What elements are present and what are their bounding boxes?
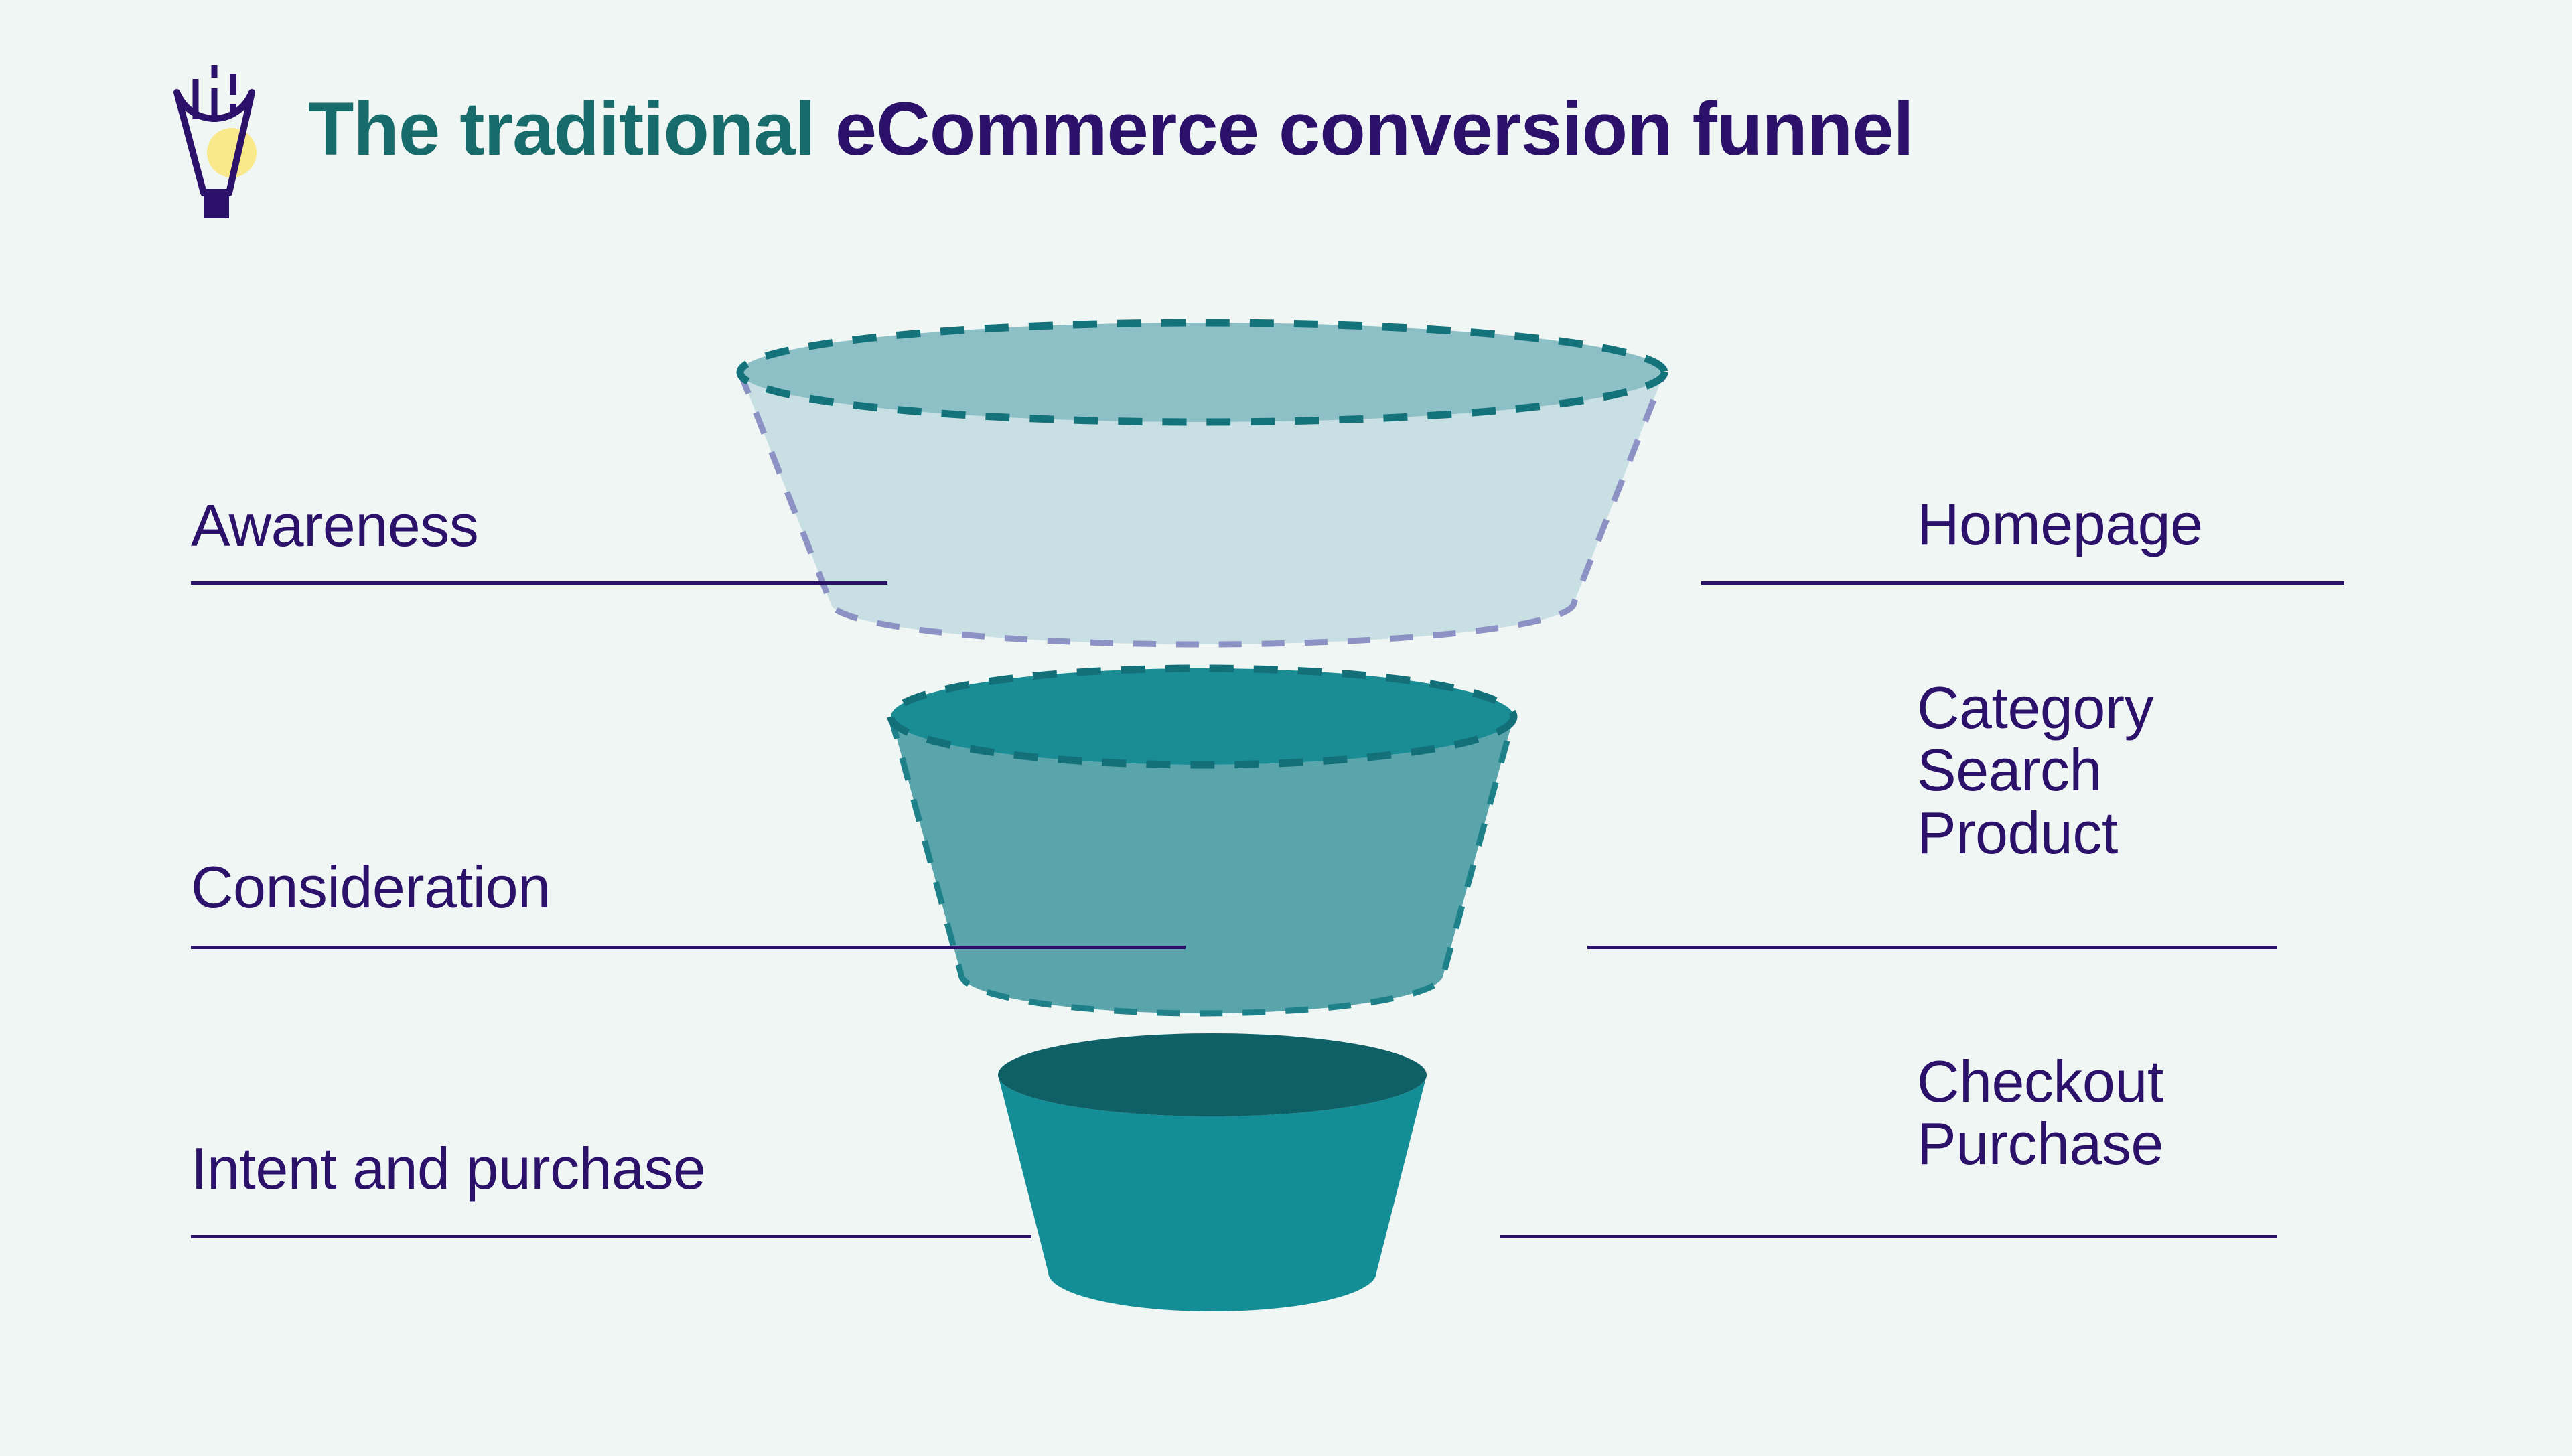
page-label-group-consideration: Category Search Product <box>1917 676 2153 864</box>
stage-rule-intent-left <box>191 1235 1031 1238</box>
intent-body <box>998 1075 1427 1311</box>
page-label-purchase: Purchase <box>1917 1112 2163 1175</box>
page-title: The traditional eCommerce conversion fun… <box>308 92 1914 176</box>
page-title-part-2: eCommerce conversion funnel <box>835 87 1914 171</box>
stage-label-consideration: Consideration <box>191 856 551 918</box>
intent-top-ellipse <box>998 1033 1427 1116</box>
page-label-search: Search <box>1917 739 2153 801</box>
page-label-product: Product <box>1917 802 2153 864</box>
page-label-group-intent: Checkout Purchase <box>1917 1050 2163 1175</box>
consideration-top-outline <box>891 668 1514 765</box>
awareness-body <box>740 372 1664 644</box>
funnel-stage-intent <box>998 1033 1427 1311</box>
page-title-part-1: The traditional <box>308 87 815 171</box>
stage-label-intent-and-purchase: Intent and purchase <box>191 1137 705 1199</box>
funnel-diagram-page: The traditional eCommerce conversion fun… <box>0 0 2572 1456</box>
stage-label-awareness: Awareness <box>191 494 478 557</box>
page-label-category: Category <box>1917 676 2153 739</box>
page-label-group-awareness: Homepage <box>1917 493 2203 555</box>
consideration-top-ellipse <box>891 668 1514 765</box>
page-label-checkout: Checkout <box>1917 1050 2163 1112</box>
consideration-body <box>891 717 1514 1013</box>
stage-rule-intent-right <box>1500 1235 2277 1238</box>
page-header: The traditional eCommerce conversion fun… <box>167 47 1914 221</box>
consideration-body-outline <box>891 717 1514 1013</box>
stage-rule-consideration-right <box>1587 946 2277 949</box>
awareness-top-outline <box>740 323 1664 422</box>
stage-rule-awareness-left <box>191 581 887 585</box>
stage-rule-awareness-right <box>1701 581 2344 585</box>
awareness-top-ellipse <box>740 323 1664 422</box>
stage-rule-consideration-left <box>191 946 1186 949</box>
page-label-homepage: Homepage <box>1917 493 2203 555</box>
funnel-stage-consideration <box>891 668 1514 1013</box>
funnel-lightbulb-icon <box>167 47 268 221</box>
awareness-body-outline <box>740 372 1664 644</box>
funnel-stage-awareness <box>740 323 1664 644</box>
